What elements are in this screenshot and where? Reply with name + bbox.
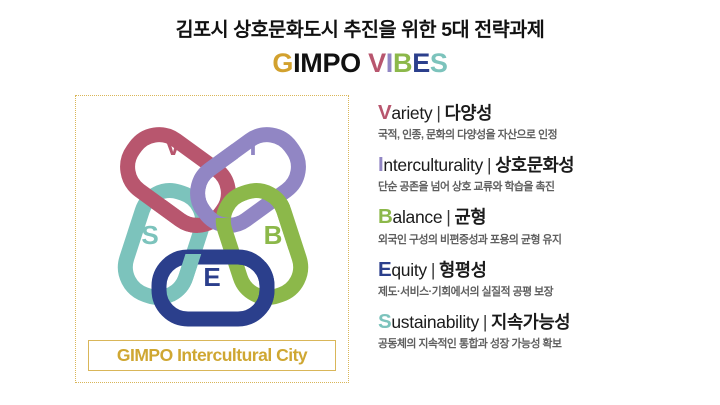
logo-letter-e: E <box>203 262 220 292</box>
logo-panel: V I B E S GIMPO Intercultural City <box>75 95 349 383</box>
strategy-initial: S <box>378 310 391 333</box>
brand-title: GIMPO VIBES <box>0 48 720 79</box>
brand-letter-i: I <box>386 48 393 78</box>
strategy-divider: | <box>427 260 439 280</box>
logo-letter-i: I <box>249 131 256 161</box>
strategy-description: 외국인 구성의 비편중성과 포용의 균형 유지 <box>378 234 708 247</box>
strategy-item-interculturality: Interculturality|상호문화성 단순 공존을 넘어 상호 교류와 … <box>378 152 708 195</box>
strategy-word: ariety <box>391 103 432 123</box>
brand-letter-e: E <box>412 48 430 78</box>
brand-letter-s: S <box>430 48 448 78</box>
brand-letters-impo: IMPO <box>293 48 361 78</box>
strategy-title: Balance|균형 <box>378 204 708 230</box>
strategy-korean: 다양성 <box>445 103 492 123</box>
strategy-divider: | <box>442 207 454 227</box>
strategy-word: alance <box>393 207 443 227</box>
strategy-title: Equity|형평성 <box>378 257 708 283</box>
strategy-description: 공동체의 지속적인 통합과 성장 가능성 확보 <box>378 338 708 351</box>
strategy-title: Interculturality|상호문화성 <box>378 152 708 178</box>
logo-letter-v: V <box>164 131 182 161</box>
strategy-initial: B <box>378 205 393 228</box>
brand-space <box>361 48 368 78</box>
brand-letter-b: B <box>393 48 412 78</box>
vibes-chain-logo-icon: V I B E S <box>90 104 334 332</box>
strategy-korean: 상호문화성 <box>495 155 574 175</box>
strategy-item-equity: Equity|형평성 제도·서비스·기회에서의 실질적 공평 보장 <box>378 257 708 300</box>
strategy-initial: V <box>378 101 391 124</box>
strategy-item-balance: Balance|균형 외국인 구성의 비편중성과 포용의 균형 유지 <box>378 204 708 247</box>
logo-letter-s: S <box>141 220 158 250</box>
strategy-initial: E <box>378 258 391 281</box>
strategy-korean: 지속가능성 <box>491 312 570 332</box>
strategy-description: 단순 공존을 넘어 상호 교류와 학습을 촉진 <box>378 181 708 194</box>
strategy-title: Variety|다양성 <box>378 100 708 126</box>
strategy-item-variety: Variety|다양성 국적, 인종, 문화의 다양성을 자산으로 인정 <box>378 100 708 143</box>
strategy-item-sustainability: Sustainability|지속가능성 공동체의 지속적인 통합과 성장 가능… <box>378 309 708 352</box>
strategy-divider: | <box>483 155 495 175</box>
slide-canvas: 김포시 상호문화도시 추진을 위한 5대 전략과제 GIMPO VIBES <box>0 0 720 405</box>
logo-caption-text: GIMPO Intercultural City <box>117 345 307 366</box>
logo-letter-b: B <box>264 220 283 250</box>
strategy-title: Sustainability|지속가능성 <box>378 309 708 335</box>
strategy-korean: 균형 <box>455 207 487 227</box>
strategy-korean: 형평성 <box>439 260 486 280</box>
logo-caption-box: GIMPO Intercultural City <box>88 340 336 371</box>
strategy-word: nterculturality <box>383 155 483 175</box>
strategy-list: Variety|다양성 국적, 인종, 문화의 다양성을 자산으로 인정 Int… <box>378 100 708 352</box>
brand-letter-v: V <box>368 48 386 78</box>
strategy-description: 제도·서비스·기회에서의 실질적 공평 보장 <box>378 286 708 299</box>
strategy-divider: | <box>432 103 444 123</box>
strategy-divider: | <box>479 312 491 332</box>
strategy-description: 국적, 인종, 문화의 다양성을 자산으로 인정 <box>378 129 708 142</box>
strategy-word: quity <box>391 260 426 280</box>
page-title: 김포시 상호문화도시 추진을 위한 5대 전략과제 <box>0 13 720 42</box>
strategy-word: ustainability <box>391 312 479 332</box>
brand-letter-g: G <box>272 48 293 78</box>
